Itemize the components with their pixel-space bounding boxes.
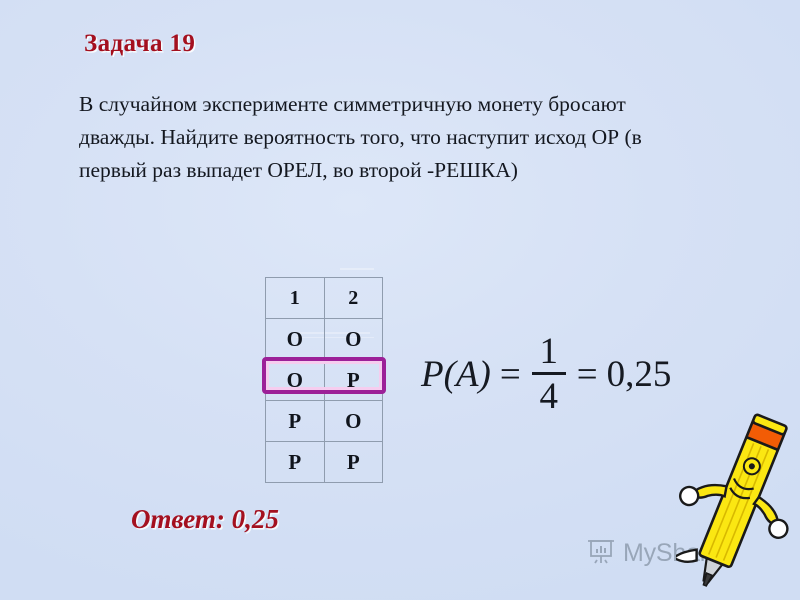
fraction-numerator: 1 (539, 333, 558, 372)
formula-result: 0,25 (607, 353, 672, 396)
table-cell: Р (324, 360, 383, 401)
outcomes-table: 1 2 О О О Р Р О Р Р (265, 277, 383, 483)
table-cell: Р (266, 401, 325, 442)
formula-equals-2: = (577, 353, 598, 396)
probability-formula: P(A) = 1 4 = 0,25 (421, 333, 671, 415)
pencil-character (676, 412, 800, 600)
problem-statement: В случайном эксперименте симметричную мо… (79, 88, 654, 187)
table-row: Р О (266, 401, 383, 442)
table-header-cell-2: 2 (324, 278, 383, 319)
answer-line: Ответ: 0,25 (131, 504, 279, 535)
formula-lhs: P(A) (421, 353, 491, 396)
table-cell: Р (324, 442, 383, 483)
table-cell: Р (266, 442, 325, 483)
table-row: О О (266, 319, 383, 360)
table-header-cell-1: 1 (266, 278, 325, 319)
table-cell: О (324, 319, 383, 360)
fraction-denominator: 4 (539, 375, 558, 415)
watermark: MyShared (586, 536, 735, 571)
table-row: Р Р (266, 442, 383, 483)
presentation-chart-icon (586, 536, 616, 571)
page-title: Задача 19 (84, 30, 195, 58)
slide-canvas: Задача 19 В случайном эксперименте симме… (0, 0, 800, 600)
table-header-row: 1 2 (266, 278, 383, 319)
table-cell: О (324, 401, 383, 442)
light-streak-artifact (340, 268, 374, 270)
table-cell: О (266, 360, 325, 401)
formula-equals-1: = (500, 353, 521, 396)
table-row-highlighted: О Р (266, 360, 383, 401)
table-cell: О (266, 319, 325, 360)
watermark-text: MyShared (623, 539, 735, 568)
formula-fraction: 1 4 (532, 333, 566, 415)
